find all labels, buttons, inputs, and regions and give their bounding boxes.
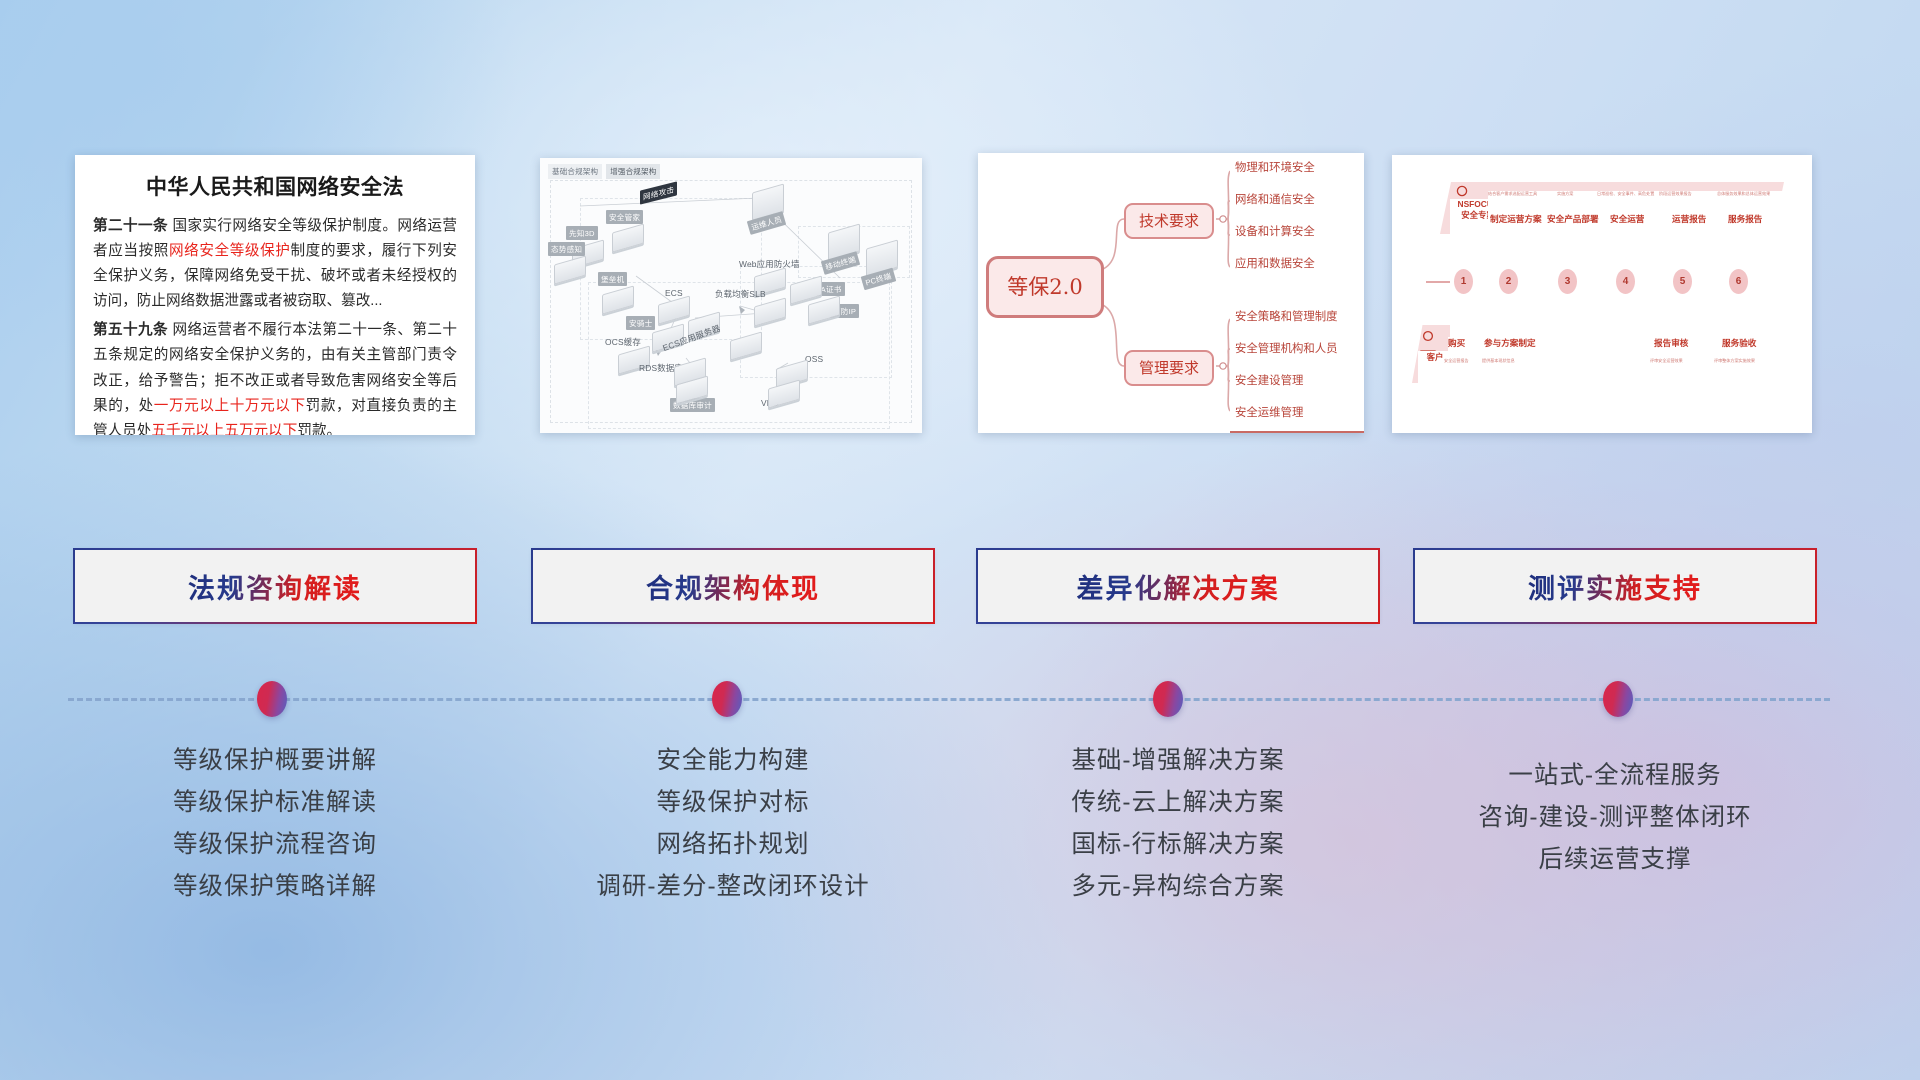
article-59-text-c: 罚款。	[297, 423, 341, 435]
list-item: 等级保护策略详解	[75, 866, 475, 908]
headline-box-regulation-consulting[interactable]: 法规咨询解读	[75, 550, 475, 622]
article-21-highlight: 网络安全等级保护	[169, 243, 291, 259]
timeline-step-1: 1	[1454, 269, 1473, 294]
axis-dot-3	[1153, 681, 1183, 717]
timeline-step-2: 2	[1499, 269, 1518, 294]
timeline-step-3: 3	[1558, 269, 1577, 294]
node-label-slb: 负载均衡SLB	[712, 286, 769, 301]
mindmap-branch-management: 管理要求	[1124, 350, 1214, 386]
mindmap-branch-technical: 技术要求	[1124, 203, 1214, 239]
timeline-axis-dashed	[68, 698, 1830, 701]
law-article-21: 第二十一条 国家实行网络安全等级保护制度。网络运营者应当按照网络安全等级保护制度…	[93, 214, 457, 314]
article-59-highlight-2: 五千元以上五万元以下	[151, 423, 297, 435]
node-label-waf: Web应用防火墙	[736, 256, 803, 271]
node-label-xianzhi3d: 先知3D	[566, 226, 598, 240]
timeline-bottom-sub-4: 评审整体方案实施效果	[1714, 358, 1812, 433]
headline-label-1: 法规咨询解读	[188, 567, 362, 606]
list-item: 后续运营支撑	[1415, 839, 1815, 881]
list-item: 网络拓扑规划	[533, 824, 933, 866]
feature-list-differentiated-solution: 基础-增强解决方案 传统-云上解决方案 国标-行标解决方案 多元-异构综合方案	[978, 740, 1378, 909]
headline-label-3: 差异化解决方案	[1077, 567, 1280, 606]
mindmap-root-node: 等保2.0	[986, 256, 1104, 318]
list-item: 等级保护对标	[533, 782, 933, 824]
list-item: 基础-增强解决方案	[978, 740, 1378, 782]
axis-dot-4	[1603, 681, 1633, 717]
list-item: 调研-差分-整改闭环设计	[533, 866, 933, 908]
headline-label-2: 合规架构体现	[646, 567, 820, 606]
card-cybersecurity-law: 中华人民共和国网络安全法 第二十一条 国家实行网络安全等级保护制度。网络运营者应…	[75, 155, 475, 435]
list-item: 等级保护标准解读	[75, 782, 475, 824]
node-label-security-guard: 安骑士	[626, 316, 655, 330]
list-item: 国标-行标解决方案	[978, 824, 1378, 866]
node-label-ocs-cache: OCS缓存	[602, 334, 644, 349]
headline-label-4: 测评实施支持	[1528, 567, 1702, 606]
headline-box-assessment-support[interactable]: 测评实施支持	[1415, 550, 1815, 622]
article-21-label: 第二十一条	[93, 218, 168, 234]
card-compliance-architecture: 基础合规架构 增强合规架构	[540, 158, 922, 433]
law-title: 中华人民共和国网络安全法	[93, 171, 457, 201]
headline-box-compliance-architecture[interactable]: 合规架构体现	[533, 550, 933, 622]
card-nsfocus-service-timeline: NSFOCUS 安全专家 客户 结合客户需求选配运营工具 实施方案 日常巡检、安…	[1392, 155, 1812, 433]
article-59-label: 第五十九条	[93, 322, 168, 338]
article-59-highlight-1: 一万元以上十万元以下	[154, 398, 306, 414]
timeline-step-5: 5	[1673, 269, 1692, 294]
node-label-situation-awareness: 态势感知	[548, 242, 585, 256]
list-item: 咨询-建设-测评整体闭环	[1415, 797, 1815, 839]
list-item: 多元-异构综合方案	[978, 866, 1378, 908]
feature-list-compliance-architecture: 安全能力构建 等级保护对标 网络拓扑规划 调研-差分-整改闭环设计	[533, 740, 933, 909]
list-item: 传统-云上解决方案	[978, 782, 1378, 824]
list-item: 一站式-全流程服务	[1415, 755, 1815, 797]
list-item: 等级保护流程咨询	[75, 824, 475, 866]
card-dengbao-mindmap: 等保2.0 技术要求 管理要求 物理和环境安全 网络和通信安全 设备和计算安全 …	[978, 153, 1364, 433]
list-item: 安全能力构建	[533, 740, 933, 782]
timeline-step-4: 4	[1616, 269, 1635, 294]
feature-list-regulation-consulting: 等级保护概要讲解 等级保护标准解读 等级保护流程咨询 等级保护策略详解	[75, 740, 475, 909]
headline-box-differentiated-solution[interactable]: 差异化解决方案	[978, 550, 1378, 622]
axis-dot-2	[712, 681, 742, 717]
list-item: 等级保护概要讲解	[75, 740, 475, 782]
node-label-security-butler: 安全管家	[606, 210, 643, 224]
law-article-59: 第五十九条 网络运营者不履行本法第二十一条、第二十五条规定的网络安全保护义务的，…	[93, 318, 457, 435]
axis-dot-1	[257, 681, 287, 717]
feature-list-assessment-support: 一站式-全流程服务 咨询-建设-测评整体闭环 后续运营支撑	[1415, 755, 1815, 881]
mindmap-leaf-operation: 安全运维管理	[1230, 404, 1364, 433]
node-label-bastion-host: 堡垒机	[598, 272, 627, 286]
timeline-step-6: 6	[1729, 269, 1748, 294]
